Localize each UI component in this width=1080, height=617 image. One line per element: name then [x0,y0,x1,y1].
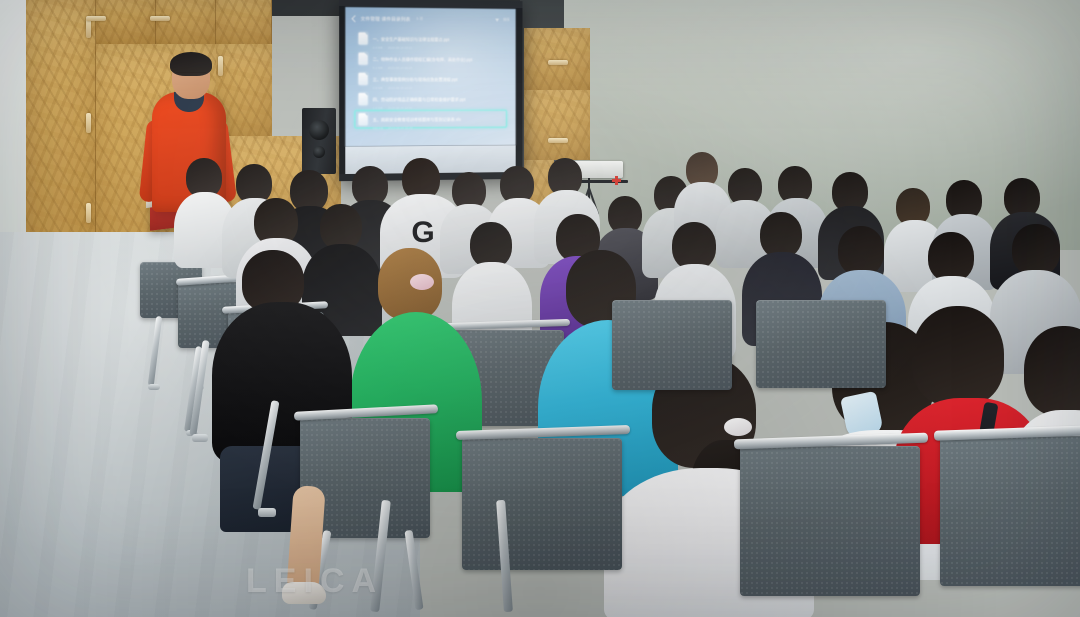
list-item-size: 980 KB [373,126,383,131]
wall-panel-upper-c [216,0,272,44]
slide-toolbar[interactable]: 排序 [495,18,510,23]
list-item-selected[interactable]: 五、岗前安全教育培训考核题库与签到记录表.xls 980 KB 2023-08-… [354,110,506,129]
chair-seat[interactable] [462,438,622,570]
wall-panel-upper-b [156,0,216,44]
document-icon [359,53,368,65]
list-item-title: 一、安全生产基础知识与法律法规要点.ppt [373,36,450,42]
cabinet-handle[interactable] [548,138,568,143]
speaker-woofer-icon [309,120,329,140]
red-cross-icon [612,176,621,185]
photo-scene: 文件管理 课件目录列表 5 项 排序 一、安全生产基础知识与法律法规要点.ppt… [0,0,1080,617]
slide-toolbar-label: 排序 [503,18,510,23]
person-head [928,232,974,282]
chair-foot [192,434,208,442]
cabinet-handle[interactable] [86,113,91,133]
list-item-title: 五、岗前安全教育培训考核题库与签到记录表.xls [373,116,461,121]
cabinet-handle[interactable] [548,60,568,65]
slide-title: 文件管理 课件目录列表 [361,16,411,23]
list-item[interactable]: 三、典型事故案例分析与现场应急处置流程.ppt 3.8 MB 2023-08-1… [354,70,506,88]
list-item-meta: 980 KB 2023-08-16 08:45 [373,125,503,131]
wall-panel-upper-a [96,0,156,44]
list-item[interactable]: 一、安全生产基础知识与法律法规要点.ppt 2.4 MB 2023-08-14 … [354,29,506,48]
chair-seat[interactable] [940,436,1080,586]
chair-seat[interactable] [612,300,732,390]
cabinet-handle[interactable] [150,16,170,21]
person-head [838,226,884,276]
speaker-tweeter-icon [313,146,325,158]
list-item-date: 2023-08-16 08:45 [388,126,413,131]
chair-seat[interactable] [756,300,886,388]
person-shoe [282,582,326,604]
loudspeaker [302,108,336,174]
cabinet-handle[interactable] [86,18,91,38]
slide-title-badge: 5 项 [416,17,423,22]
chair-seat[interactable] [740,446,920,596]
cabinet-handle[interactable] [86,16,106,21]
document-icon [359,113,368,125]
slide-topbar: 文件管理 课件目录列表 5 项 排序 [351,13,509,26]
cabinet-handle[interactable] [86,203,91,223]
list-item-title: 三、典型事故案例分析与现场应急处置流程.ppt [373,76,458,81]
document-icon [359,32,368,44]
person-head [912,306,1004,406]
cabinet-handle[interactable] [218,56,223,76]
screen-surface: 文件管理 课件目录列表 5 项 排序 一、安全生产基础知识与法律法规要点.ppt… [345,7,515,147]
shirt-graphic-letter: G [410,216,436,250]
wall-panel-far-right-2 [524,90,590,160]
chevron-left-icon[interactable] [351,15,356,23]
list-item-title: 四、劳动防护用品正确佩戴与日常检查维护要求.ppt [373,96,466,101]
projection-screen: 文件管理 课件目录列表 5 项 排序 一、安全生产基础知识与法律法规要点.ppt… [339,0,522,181]
wall-panel-far-right [524,28,590,90]
list-item[interactable]: 四、劳动防护用品正确佩戴与日常检查维护要求.ppt 1.6 MB 2023-08… [354,90,506,108]
slide-file-list: 一、安全生产基础知识与法律法规要点.ppt 2.4 MB 2023-08-14 … [354,29,506,128]
eyeglasses-icon [176,72,206,77]
chair-foot [258,508,276,517]
chair-foot [148,384,160,390]
hair-scrunchie [410,274,434,290]
hair-scrunchie [724,418,752,436]
list-item[interactable]: 二、特种作业人员操作规程汇编(含电焊、高处作业).ppt 5.1 MB 2023… [354,50,506,69]
person-head [672,222,716,270]
document-icon [359,73,368,85]
person-head [1012,224,1060,276]
filter-icon[interactable] [495,18,500,23]
document-icon [359,93,368,105]
list-item-title: 二、特种作业人员操作规程汇编(含电焊、高处作业).ppt [373,56,473,61]
